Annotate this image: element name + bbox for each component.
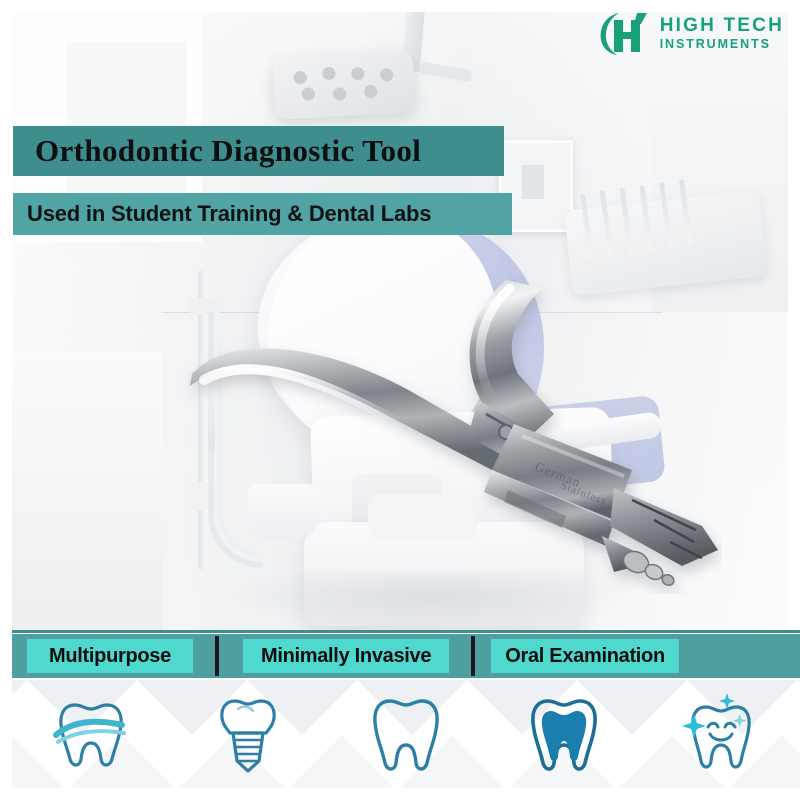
page-title: Orthodontic Diagnostic Tool xyxy=(13,133,421,169)
icon-strip xyxy=(12,680,800,788)
icon-cell-5 xyxy=(642,691,800,777)
wall-panel-lower-left xyxy=(12,352,162,630)
background-photo: German Stainless xyxy=(12,12,788,630)
happy-tooth-sparkle-icon xyxy=(678,691,764,777)
product-poster: German Stainless xyxy=(0,0,800,800)
brand-line-2: INSTRUMENTS xyxy=(660,38,784,51)
title-banner: Orthodontic Diagnostic Tool xyxy=(13,126,504,176)
plier-body: German Stainless xyxy=(190,280,718,587)
brand-logo: HIGH TECH INSTRUMENTS xyxy=(597,10,784,56)
icon-cell-3 xyxy=(327,691,485,777)
tooth-filled-icon xyxy=(521,691,607,777)
tooth-with-wave-icon xyxy=(48,691,134,777)
icon-cell-4 xyxy=(485,691,643,777)
feature-divider-1 xyxy=(215,636,219,676)
feature-chip-multipurpose: Multipurpose xyxy=(27,639,193,673)
feature-bar: Multipurpose Minimally Invasive Oral Exa… xyxy=(12,634,800,678)
dental-implant-icon xyxy=(205,691,291,777)
icon-cell-2 xyxy=(170,691,328,777)
page-subtitle: Used in Student Training & Dental Labs xyxy=(13,201,431,227)
feature-divider-2 xyxy=(471,636,475,676)
feature-chip-minimally-invasive: Minimally Invasive xyxy=(243,639,449,673)
feature-bar-top-rule xyxy=(12,630,800,633)
tooth-outline-icon xyxy=(363,691,449,777)
overhead-dental-light-icon xyxy=(272,50,415,119)
sparkle-group xyxy=(682,693,746,738)
brand-line-1: HIGH TECH xyxy=(660,16,784,35)
orthodontic-plier-product-image: German Stainless xyxy=(162,274,722,594)
subtitle-banner: Used in Student Training & Dental Labs xyxy=(13,193,512,235)
feature-chip-oral-examination: Oral Examination xyxy=(491,639,679,673)
icon-cell-1 xyxy=(12,691,170,777)
high-tech-h-mark-icon xyxy=(597,10,653,56)
brand-wordmark: HIGH TECH INSTRUMENTS xyxy=(660,16,784,51)
